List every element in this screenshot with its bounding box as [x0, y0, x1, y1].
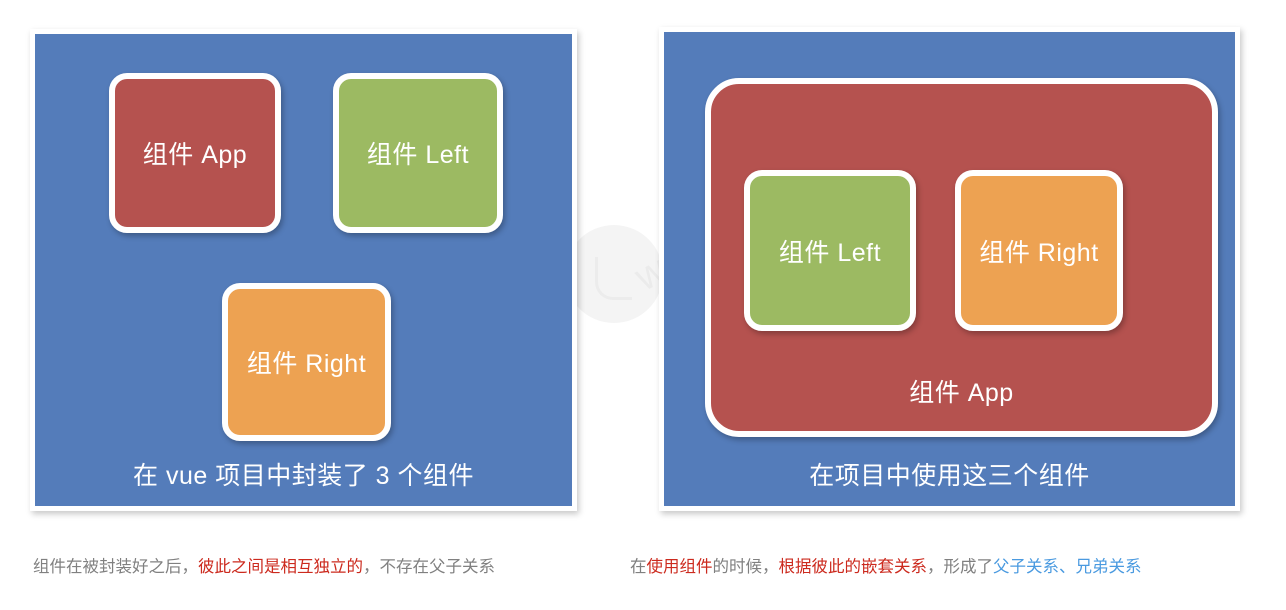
- component-box-app: 组件 App: [109, 73, 281, 233]
- footnote-run-3: 根据彼此的嵌套关系: [779, 558, 928, 576]
- footnote-run-2: ，不存在父子关系: [363, 558, 495, 576]
- component-box-right: 组件 Right: [222, 283, 391, 441]
- nested-component-box-right: 组件 Right: [955, 170, 1123, 331]
- watermark-logo-icon: [565, 225, 663, 323]
- footnote-right: 在使用组件的时候，根据彼此的嵌套关系，形成了父子关系、兄弟关系: [630, 553, 1142, 577]
- footnote-run-1: 彼此之间是相互独立的: [198, 558, 363, 576]
- component-box-left: 组件 Left: [333, 73, 503, 233]
- footnote-run-1: 使用组件: [647, 558, 713, 576]
- nested-component-box-left: 组件 Left: [744, 170, 916, 331]
- footnote-run-5: 父子关系、兄弟关系: [993, 558, 1142, 576]
- footnote-run-2: 的时候，: [713, 558, 779, 576]
- footnote-left: 组件在被封装好之后，彼此之间是相互独立的，不存在父子关系: [33, 553, 495, 577]
- panel-caption-right: 在项目中使用这三个组件: [664, 456, 1235, 492]
- diagram-panel-usage: 组件 App 组件 Left 组件 Right 在项目中使用这三个组件: [659, 27, 1240, 511]
- footnote-run-0: 在: [630, 558, 647, 576]
- panel-caption-left: 在 vue 项目中封装了 3 个组件: [35, 456, 572, 492]
- footnote-run-4: ，形成了: [927, 558, 993, 576]
- footnote-run-0: 组件在被封装好之后，: [33, 558, 198, 576]
- diagram-panel-encapsulation: 组件 App 组件 Left 组件 Right 在 vue 项目中封装了 3 个…: [30, 29, 577, 511]
